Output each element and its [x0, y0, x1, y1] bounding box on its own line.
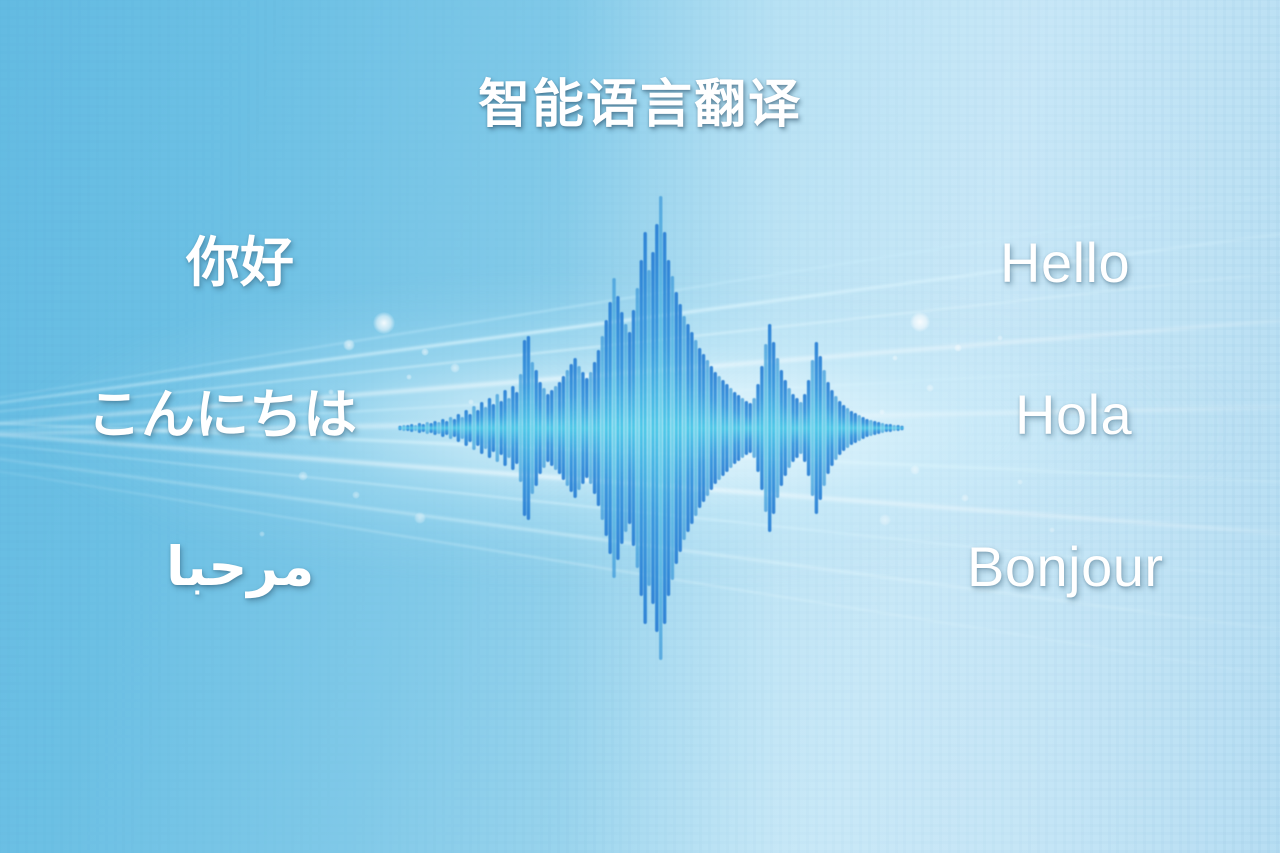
- waveform-bar: [608, 302, 611, 554]
- waveform-bar: [811, 360, 814, 496]
- waveform-bar: [499, 401, 502, 455]
- waveform-bar: [628, 332, 631, 524]
- page-title: 智能语言翻译: [0, 62, 1280, 137]
- waveform-bar: [885, 424, 888, 432]
- waveform-bar: [745, 401, 748, 455]
- waveform-bar: [686, 324, 689, 532]
- waveform-bar: [893, 425, 896, 431]
- waveform-bar: [838, 401, 841, 455]
- waveform-bar: [714, 372, 717, 484]
- waveform-bar: [764, 344, 767, 512]
- waveform-bar: [445, 421, 448, 435]
- waveform-bar: [558, 382, 561, 474]
- waveform-bar: [550, 390, 553, 466]
- waveform-bar: [449, 417, 452, 439]
- waveform-bar: [562, 376, 565, 480]
- waveform-bar: [585, 378, 588, 478]
- waveform-bar: [640, 260, 643, 596]
- waveform-bar: [426, 422, 429, 434]
- translation-hero-banner: 智能语言翻译 你好こんにちはمرحبا HelloHolaBonjour: [0, 0, 1280, 853]
- waveform-bar: [678, 304, 681, 552]
- waveform-bar: [776, 358, 779, 498]
- waveform-bar: [706, 360, 709, 496]
- waveform-bar: [418, 423, 421, 433]
- waveform-bar: [620, 312, 623, 544]
- waveform-bar: [429, 423, 432, 433]
- waveform-bar: [605, 320, 608, 536]
- waveform-bar: [546, 394, 549, 462]
- waveform-bar: [698, 348, 701, 508]
- waveform-bar: [616, 296, 619, 560]
- waveform-bar: [826, 382, 829, 474]
- waveform-bar: [433, 421, 436, 435]
- waveform-bar: [710, 366, 713, 490]
- waveform-bar: [768, 324, 771, 532]
- waveform-bar: [554, 386, 557, 470]
- waveform-bar: [815, 342, 818, 514]
- waveform-bar: [671, 276, 674, 580]
- waveform-bar: [749, 403, 752, 453]
- waveform-bar: [632, 310, 635, 546]
- waveform-bar: [422, 424, 425, 432]
- waveform-bar: [636, 288, 639, 568]
- waveform-bar: [846, 408, 849, 448]
- waveform-bar: [647, 270, 650, 586]
- target-word-french: Bonjour: [967, 536, 1164, 599]
- waveform-bar: [410, 424, 413, 432]
- waveform-bar: [717, 376, 720, 480]
- waveform-bar: [511, 386, 514, 470]
- waveform-bar: [799, 402, 802, 454]
- waveform-bar: [857, 415, 860, 441]
- waveform-bar: [453, 419, 456, 437]
- waveform-bar: [577, 366, 580, 490]
- waveform-bar: [542, 388, 545, 468]
- target-word-english: Hello: [1000, 232, 1130, 295]
- source-word-chinese: 你好: [186, 233, 294, 293]
- waveform-bar: [675, 292, 678, 564]
- waveform-bar: [573, 358, 576, 498]
- waveform-bar: [597, 350, 600, 506]
- waveform-bar: [682, 316, 685, 540]
- waveform-bar: [414, 425, 417, 431]
- waveform-bar: [488, 398, 491, 458]
- target-word-spanish: Hola: [1015, 384, 1132, 447]
- waveform-bar: [515, 392, 518, 464]
- waveform-bar: [406, 425, 409, 431]
- waveform-bar: [702, 354, 705, 502]
- waveform-bar: [655, 224, 658, 632]
- waveform-bar: [643, 232, 646, 624]
- waveform-bar: [589, 372, 592, 484]
- waveform-bar: [772, 342, 775, 514]
- waveform-bar: [507, 398, 510, 458]
- waveform-bar: [496, 394, 499, 462]
- waveform-bar: [787, 388, 790, 468]
- waveform-bar: [593, 362, 596, 494]
- waveform-bar: [807, 380, 810, 476]
- waveform-bar: [441, 419, 444, 437]
- waveform-bar: [729, 388, 732, 468]
- waveform-bar: [535, 370, 538, 486]
- waveform-bar: [803, 394, 806, 462]
- waveform-bar: [476, 410, 479, 446]
- waveform-bar: [822, 370, 825, 486]
- waveform-bar: [503, 390, 506, 466]
- waveform-bar: [690, 332, 693, 524]
- waveform-bar: [651, 252, 654, 604]
- waveform-bar: [472, 406, 475, 450]
- waveform-bar: [398, 426, 401, 430]
- waveform-bar: [733, 392, 736, 464]
- waveform-bar: [830, 390, 833, 466]
- waveform-bar: [531, 362, 534, 494]
- waveform-bar: [819, 356, 822, 500]
- waveform-bar: [523, 340, 526, 516]
- waveform-bar: [480, 402, 483, 454]
- source-word-arabic: مرحبا: [166, 537, 314, 597]
- waveform-bar: [659, 196, 662, 660]
- waveform-bar: [519, 374, 522, 482]
- waveform-bar: [834, 396, 837, 460]
- waveform-bar: [741, 398, 744, 458]
- waveform-bar: [402, 425, 405, 431]
- waveform-bar: [464, 410, 467, 446]
- waveform-bar: [854, 413, 857, 443]
- waveform-bar: [791, 394, 794, 462]
- waveform-bar: [850, 411, 853, 445]
- waveform-bar: [900, 426, 903, 430]
- waveform-bar: [457, 414, 460, 442]
- waveform-bar: [877, 422, 880, 434]
- waveform-bar: [861, 417, 864, 439]
- waveform-bar: [760, 366, 763, 490]
- waveform-bar: [437, 422, 440, 434]
- waveform-bar: [468, 414, 471, 442]
- waveform-bar: [566, 370, 569, 486]
- waveform-bar: [492, 404, 495, 452]
- waveform-bar: [795, 398, 798, 458]
- waveform-bar: [873, 421, 876, 435]
- waveform-bar: [752, 398, 755, 458]
- waveform-bar: [865, 419, 868, 437]
- waveform-bar: [527, 336, 530, 520]
- waveform-bar: [881, 423, 884, 433]
- waveform-bar: [484, 407, 487, 449]
- waveform-bar: [780, 370, 783, 486]
- waveform-bar: [694, 340, 697, 516]
- waveform-bar: [601, 336, 604, 520]
- waveform-bar: [896, 425, 899, 431]
- waveform-bar: [737, 395, 740, 461]
- waveform-bar: [784, 380, 787, 476]
- source-word-japanese: こんにちは: [87, 385, 357, 445]
- waveform-bar: [570, 364, 573, 492]
- waveform-bar: [612, 278, 615, 578]
- waveform-bar: [725, 384, 728, 472]
- waveform-bar: [667, 260, 670, 596]
- waveform-bar: [663, 232, 666, 624]
- waveform-bar: [889, 424, 892, 432]
- waveform-bar: [842, 405, 845, 451]
- waveform-bar: [538, 382, 541, 474]
- waveform-bar: [869, 420, 872, 436]
- waveform-bar: [721, 380, 724, 476]
- waveform-bar: [756, 384, 759, 472]
- waveform-bar: [461, 417, 464, 439]
- waveform-bar: [624, 324, 627, 532]
- waveform-bar: [581, 372, 584, 484]
